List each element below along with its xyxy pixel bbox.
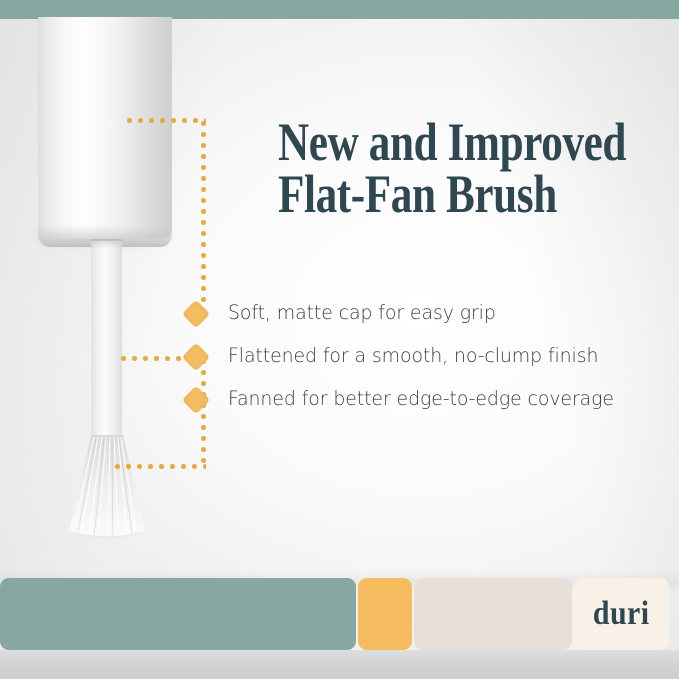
brush-stem-top-shade bbox=[91, 239, 122, 249]
feature-label: Flattened for a smooth, no-clump finish bbox=[228, 342, 598, 370]
bottle-cap bbox=[38, 17, 172, 239]
footer-base-strip bbox=[0, 650, 679, 679]
feature-label: Fanned for better edge-to-edge coverage bbox=[228, 385, 614, 413]
diamond-bullet-icon bbox=[182, 386, 210, 414]
diamond-bullet-icon bbox=[182, 300, 210, 328]
promo-image: New and Improved Flat-Fan Brush Soft, ma… bbox=[0, 0, 679, 679]
brush-stem bbox=[91, 241, 122, 441]
diamond-bullet-icon bbox=[182, 343, 210, 371]
leader-line-bottom-horizontal bbox=[112, 464, 206, 469]
list-item: Flattened for a smooth, no-clump finish bbox=[186, 343, 656, 386]
footer-bar: duri bbox=[0, 578, 679, 650]
list-item: Soft, matte cap for easy grip bbox=[186, 300, 656, 343]
leader-line-vertical-upper bbox=[201, 118, 206, 318]
feature-list: Soft, matte cap for easy grip Flattened … bbox=[186, 300, 656, 429]
headline-line-2: Flat-Fan Brush bbox=[278, 168, 590, 220]
footer-panel-beige bbox=[414, 578, 572, 650]
leader-line-top-horizontal bbox=[124, 118, 206, 123]
footer-panel-orange bbox=[358, 578, 412, 650]
footer-panel-logo: duri bbox=[574, 578, 669, 650]
brand-logo: duri bbox=[593, 597, 650, 631]
list-item: Fanned for better edge-to-edge coverage bbox=[186, 386, 656, 429]
headline: New and Improved Flat-Fan Brush bbox=[278, 116, 590, 221]
brush-bristles bbox=[48, 435, 166, 547]
footer-panel-teal bbox=[0, 578, 356, 650]
headline-line-1: New and Improved bbox=[278, 112, 626, 172]
feature-label: Soft, matte cap for easy grip bbox=[228, 299, 496, 327]
